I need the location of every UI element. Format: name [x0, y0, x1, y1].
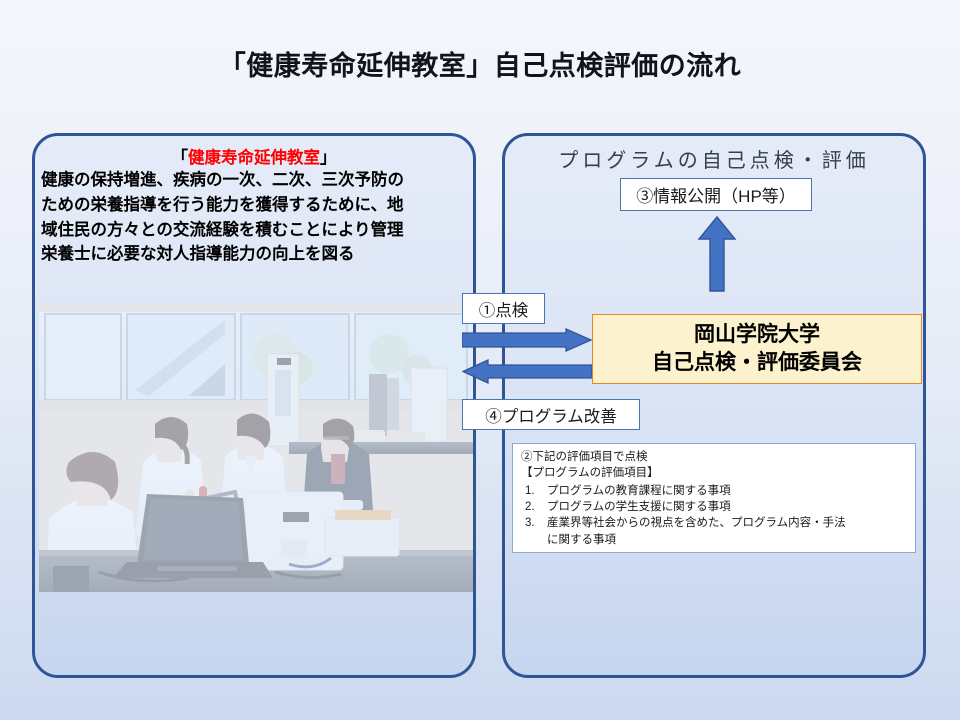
item-number: 3.	[525, 515, 535, 531]
criteria-list: 1. プログラムの教育課程に関する事項 2. プログラムの学生支援に関する事項 …	[521, 483, 909, 548]
left-panel-body: 健康の保持増進、疾病の一次、二次、三次予防の ための栄養指導を行う能力を獲得する…	[41, 168, 473, 267]
heading-highlight: 健康寿命延伸教室	[188, 149, 320, 167]
heading-bracket-close: 」	[320, 149, 337, 167]
item-text: プログラムの教育課程に関する事項	[547, 485, 731, 497]
nutrition-lab-students-photo	[39, 304, 473, 592]
information-disclosure-box[interactable]: ③情報公開（HP等）	[620, 178, 812, 211]
item-text: プログラムの学生支援に関する事項	[547, 501, 731, 513]
body-line-3: 域住民の方々との交流経験を積むことにより管理	[41, 218, 473, 243]
item-number: 1.	[525, 483, 535, 499]
criteria-line-2: 【プログラムの評価項目】	[521, 465, 909, 481]
body-line-2: ための栄養指導を行う能力を獲得するために、地	[41, 193, 473, 218]
right-panel-heading: プログラムの自己点検・評価	[505, 144, 923, 173]
arrow-right-icon	[462, 328, 592, 352]
label-inspection[interactable]: ①点検	[462, 293, 545, 324]
criteria-line-1: ②下記の評価項目で点検	[521, 449, 909, 465]
photo-fade-overlay	[39, 304, 473, 592]
list-item: 3. 産業界等社会からの視点を含めた、プログラム内容・手法	[521, 515, 909, 531]
committee-box[interactable]: 岡山学院大学 自己点検・評価委員会	[592, 314, 922, 384]
evaluation-criteria-box: ②下記の評価項目で点検 【プログラムの評価項目】 1. プログラムの教育課程に関…	[512, 443, 916, 553]
item-number: 2.	[525, 499, 535, 515]
left-panel-heading: 「健康寿命延伸教室」	[35, 144, 473, 168]
committee-line-2: 自己点検・評価委員会	[652, 349, 862, 377]
arrow-up-icon	[697, 215, 737, 293]
list-item: 2. プログラムの学生支援に関する事項	[521, 499, 909, 515]
list-item: 1. プログラムの教育課程に関する事項	[521, 483, 909, 499]
heading-bracket-open: 「	[172, 149, 189, 167]
arrow-left-icon	[462, 359, 592, 384]
item-text: 産業界等社会からの視点を含めた、プログラム内容・手法	[547, 517, 846, 529]
list-item-continuation: に関する事項	[521, 532, 909, 548]
page-title: 「健康寿命延伸教室」自己点検評価の流れ	[0, 44, 960, 83]
body-line-1: 健康の保持増進、疾病の一次、二次、三次予防の	[41, 168, 473, 193]
program-description-panel: 「健康寿命延伸教室」 健康の保持増進、疾病の一次、二次、三次予防の ための栄養指…	[32, 133, 476, 678]
committee-line-1: 岡山学院大学	[694, 321, 820, 349]
item-text: に関する事項	[547, 534, 616, 546]
label-program-improvement[interactable]: ④プログラム改善	[462, 399, 640, 430]
body-line-4: 栄養士に必要な対人指導能力の向上を図る	[41, 242, 473, 267]
